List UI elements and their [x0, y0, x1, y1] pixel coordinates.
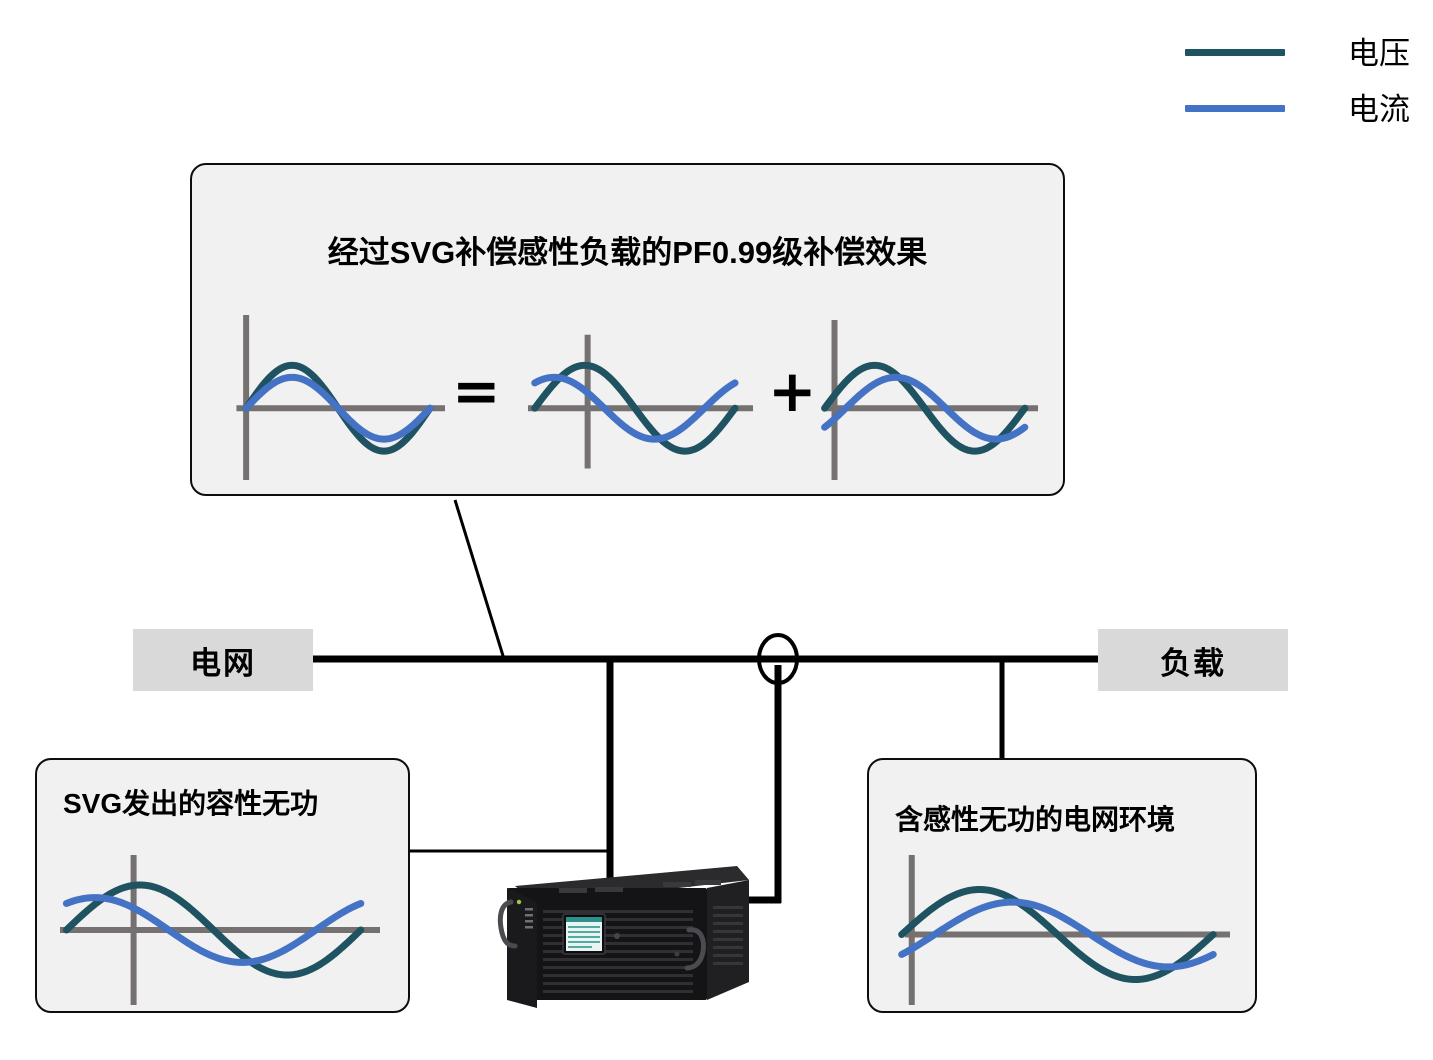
waveform-plot — [818, 315, 1038, 480]
panel-title-grid-environment: 含感性无功的电网环境 — [869, 798, 1255, 838]
load-label-text: 负载 — [1160, 638, 1226, 683]
operator-plus: + — [768, 362, 817, 420]
waveform-plot — [230, 315, 445, 480]
leader-line — [455, 500, 504, 659]
panel-title-compensation: 经过SVG补偿感性负载的PF0.99级补偿效果 — [192, 227, 1063, 272]
device-knob — [614, 933, 620, 939]
legend-item-voltage: 电压 — [1180, 32, 1430, 80]
waveform-inductive-grid — [895, 855, 1230, 1005]
svg-device-image — [497, 858, 755, 1008]
waveform-plot — [60, 855, 380, 1005]
legend: 电压 电流 — [1180, 18, 1430, 128]
waveform-plot — [895, 855, 1230, 1005]
device-port — [675, 952, 680, 957]
device-lcd-header — [566, 917, 602, 922]
device-power-led — [517, 900, 521, 904]
legend-item-current: 电流 — [1180, 88, 1430, 136]
waveform-svg-capacitive-output — [528, 315, 753, 480]
operator-equals: = — [452, 362, 501, 420]
load-label-box: 负载 — [1098, 629, 1288, 691]
current-transformer-icon — [759, 635, 797, 683]
panel-title-svg-output: SVG发出的容性无功 — [37, 782, 408, 822]
legend-label-voltage: 电压 — [1348, 32, 1410, 76]
diagram-canvas: 电压 电流 经过SVG补偿感性负载的PF0.99级补偿效果 = + 电网 — [0, 0, 1433, 1060]
device-lcd-screen — [566, 917, 602, 951]
grid-label-box: 电网 — [133, 629, 313, 691]
waveform-plot — [528, 315, 753, 480]
line-swatch-icon — [1185, 105, 1285, 112]
waveform-svg-capacitive — [60, 855, 380, 1005]
waveform-inductive-load-input — [818, 315, 1038, 480]
waveform-compensated-result — [230, 315, 445, 480]
grid-label-text: 电网 — [190, 638, 256, 683]
line-swatch-icon — [1185, 49, 1285, 56]
legend-label-current: 电流 — [1348, 88, 1410, 132]
